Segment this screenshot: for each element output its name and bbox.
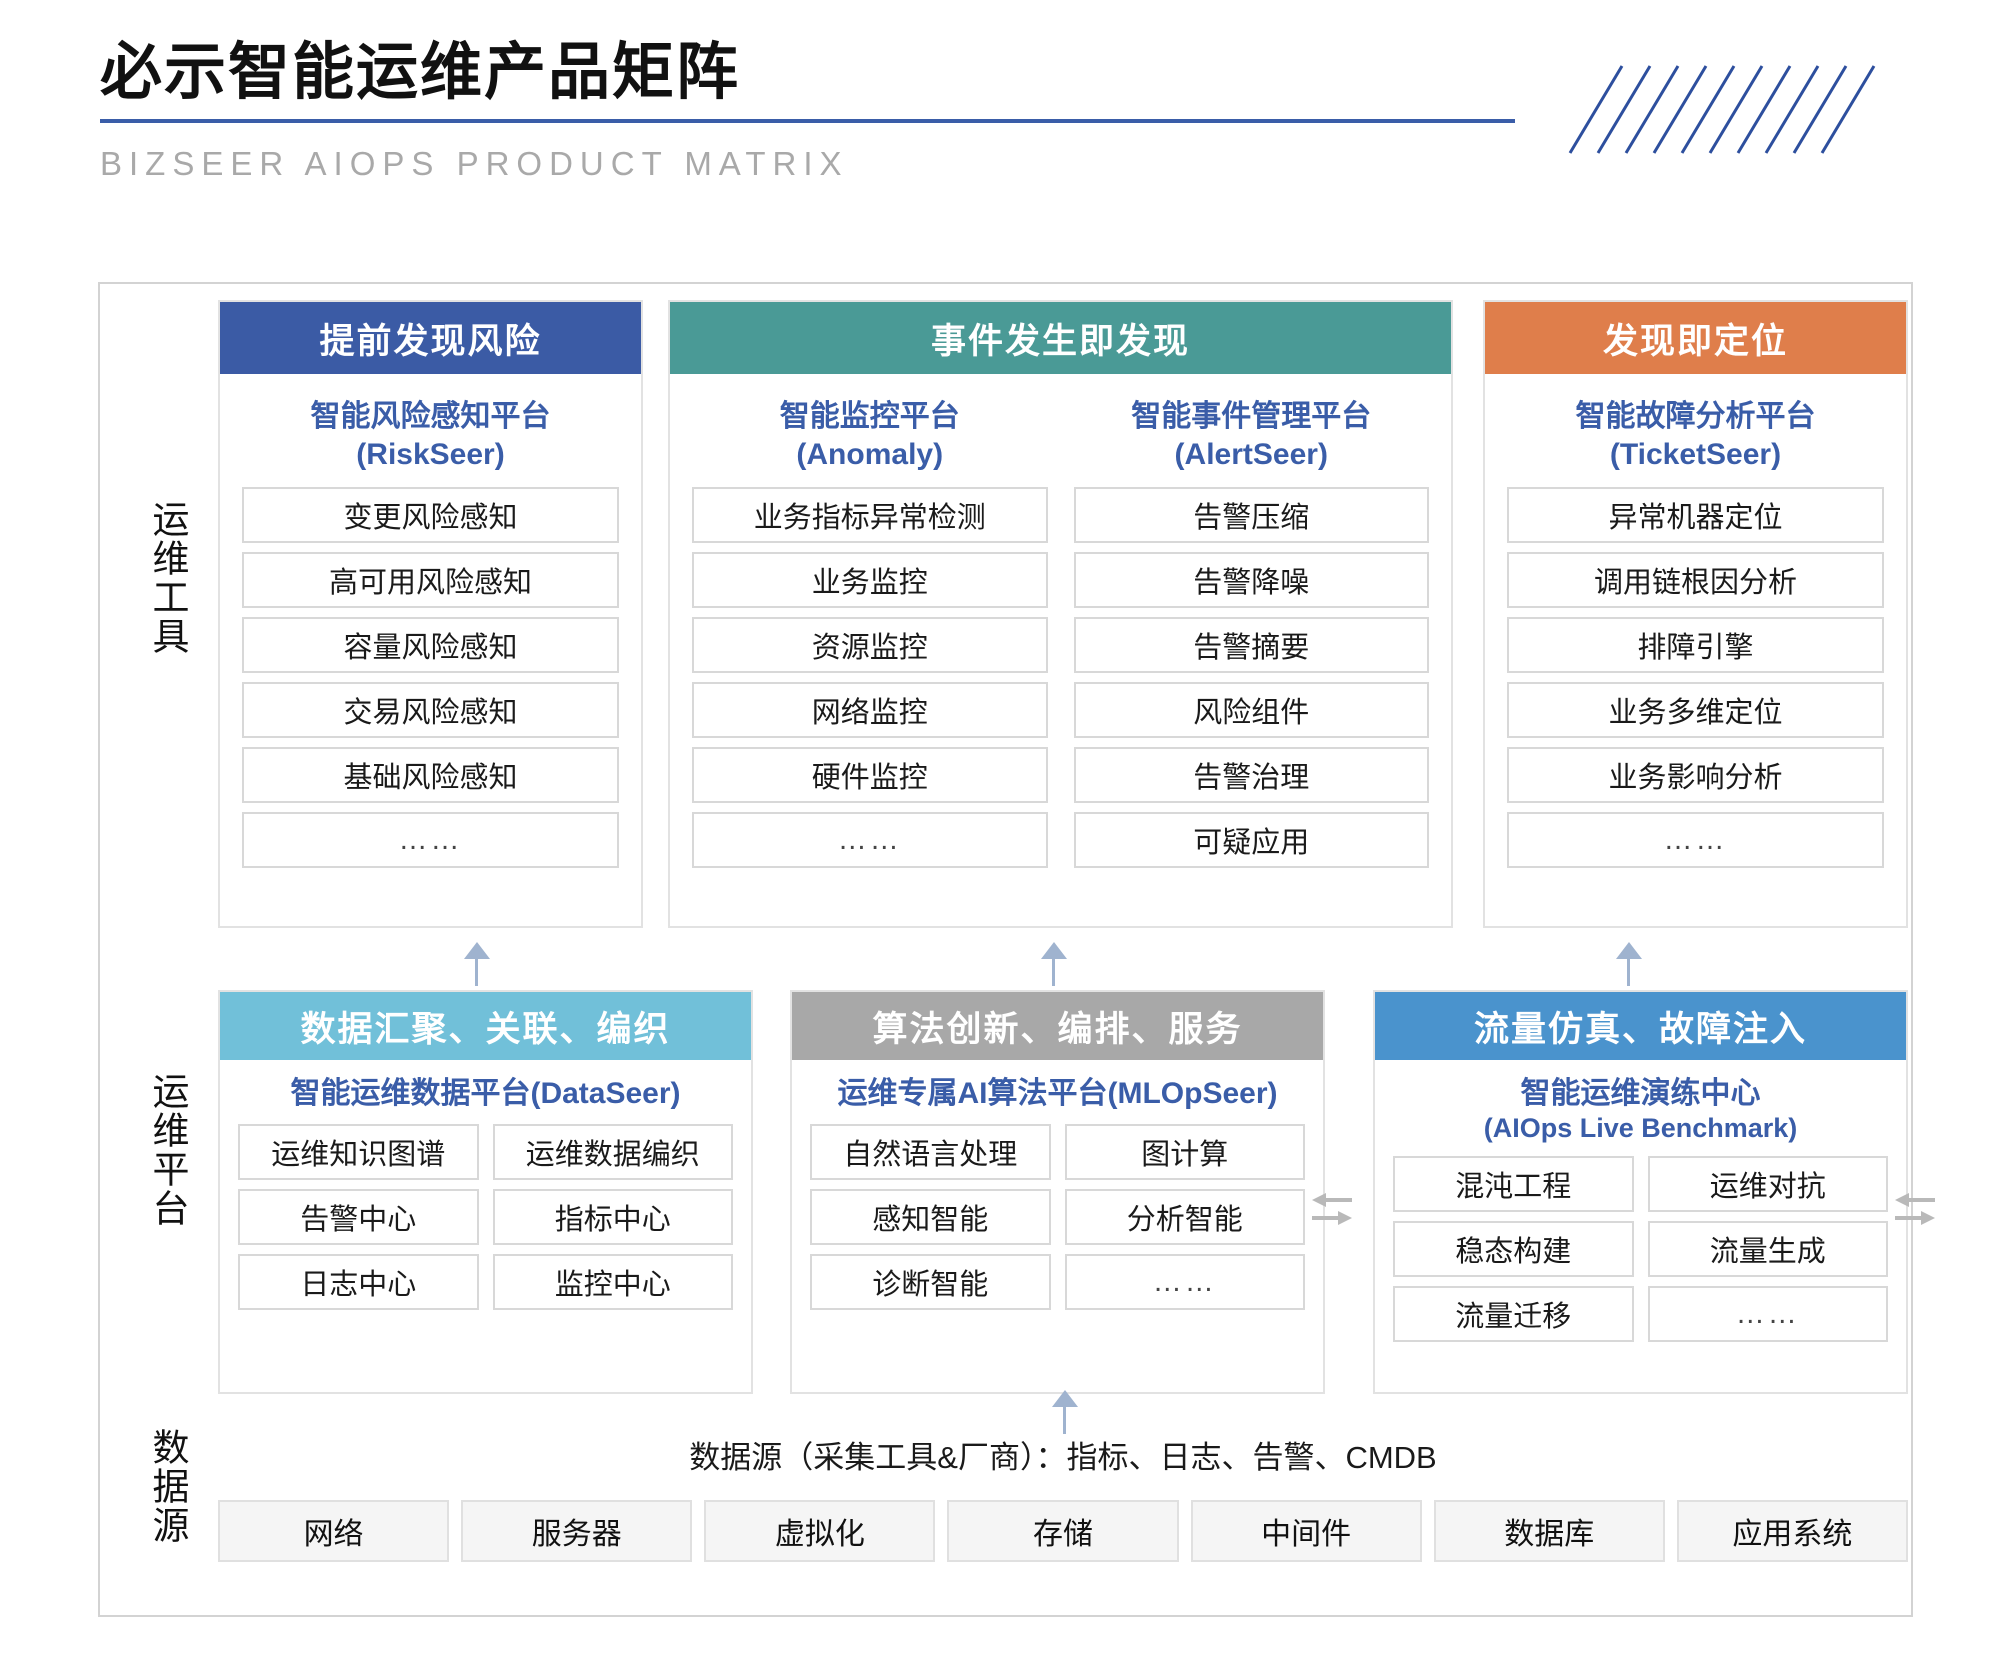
list-item[interactable]: 业务多维定位	[1507, 682, 1884, 738]
product-title-riskseer: 智能风险感知平台 (RiskSeer)	[242, 398, 619, 473]
panel-event-detection[interactable]: 事件发生即发现 智能监控平台 (Anomaly) 业务指标异常检测 业务监控 资…	[668, 300, 1453, 928]
item-grid-mlopseer: 自然语言处理 图计算 感知智能 分析智能 诊断智能 ……	[792, 1124, 1323, 1328]
list-item-more[interactable]: ……	[1507, 812, 1884, 868]
item-list-ticketseer: 异常机器定位 调用链根因分析 排障引擎 业务多维定位 业务影响分析 ……	[1507, 487, 1884, 868]
list-item[interactable]: 诊断智能	[810, 1254, 1051, 1310]
product-title-ticketseer: 智能故障分析平台 (TicketSeer)	[1507, 398, 1884, 473]
list-item-more[interactable]: ……	[692, 812, 1048, 868]
product-title-ticketseer-en: (TicketSeer)	[1507, 436, 1884, 474]
platform-title-benchmark-en: (AIOps Live Benchmark)	[1375, 1112, 1906, 1144]
platform-title-aiops-live-benchmark: 智能运维演练中心 (AIOps Live Benchmark)	[1375, 1076, 1906, 1144]
list-item[interactable]: 运维数据编织	[493, 1124, 734, 1180]
product-title-anomaly: 智能监控平台 (Anomaly)	[692, 398, 1048, 473]
product-title-anomaly-en: (Anomaly)	[692, 436, 1048, 474]
list-item[interactable]: 监控中心	[493, 1254, 734, 1310]
product-title-ticketseer-cn: 智能故障分析平台	[1507, 398, 1884, 436]
panel-header-aiops-live-benchmark: 流量仿真、故障注入	[1375, 992, 1906, 1060]
ops-platform-row: 数据汇聚、关联、编织 智能运维数据平台(DataSeer) 运维知识图谱 运维数…	[218, 990, 1908, 1410]
product-title-alertseer-en: (AlertSeer)	[1074, 436, 1430, 474]
list-item[interactable]: 分析智能	[1065, 1189, 1306, 1245]
panel-header-fault-localization: 发现即定位	[1485, 302, 1906, 374]
panel-dataseer[interactable]: 数据汇聚、关联、编织 智能运维数据平台(DataSeer) 运维知识图谱 运维数…	[218, 990, 753, 1394]
product-title-riskseer-cn: 智能风险感知平台	[242, 398, 619, 436]
list-item[interactable]: 自然语言处理	[810, 1124, 1051, 1180]
list-item[interactable]: 日志中心	[238, 1254, 479, 1310]
list-item[interactable]: 运维知识图谱	[238, 1124, 479, 1180]
panel-fault-localization[interactable]: 发现即定位 智能故障分析平台 (TicketSeer) 异常机器定位 调用链根因…	[1483, 300, 1908, 928]
list-item-more[interactable]: ……	[242, 812, 619, 868]
list-item[interactable]: 排障引擎	[1507, 617, 1884, 673]
data-source-box[interactable]: 存储	[947, 1500, 1178, 1562]
title-underline-rule	[100, 119, 1515, 123]
product-title-riskseer-en: (RiskSeer)	[242, 436, 619, 474]
list-item[interactable]: 调用链根因分析	[1507, 552, 1884, 608]
list-item[interactable]: 流量迁移	[1393, 1286, 1634, 1342]
list-item[interactable]: 告警中心	[238, 1189, 479, 1245]
page-header: 必示智能运维产品矩阵 BIZSEER AIOPS PRODUCT MATRIX	[0, 0, 2000, 190]
item-list-anomaly: 业务指标异常检测 业务监控 资源监控 网络监控 硬件监控 ……	[692, 487, 1048, 868]
platform-title-mlopseer: 运维专属AI算法平台(MLOpSeer)	[792, 1076, 1323, 1112]
list-item[interactable]: 感知智能	[810, 1189, 1051, 1245]
item-list-riskseer: 变更风险感知 高可用风险感知 容量风险感知 交易风险感知 基础风险感知 ……	[242, 487, 619, 868]
ops-tools-row: 提前发现风险 智能风险感知平台 (RiskSeer) 变更风险感知 高可用风险感…	[218, 300, 1908, 935]
list-item[interactable]: 变更风险感知	[242, 487, 619, 543]
list-item[interactable]: 业务影响分析	[1507, 747, 1884, 803]
list-item[interactable]: 运维对抗	[1648, 1156, 1889, 1212]
list-item[interactable]: 指标中心	[493, 1189, 734, 1245]
list-item-more[interactable]: ……	[1065, 1254, 1306, 1310]
exchange-arrows-icon-right	[1895, 1192, 1935, 1226]
data-source-caption: 数据源（采集工具&厂商）：指标、日志、告警、CMDB	[218, 1432, 1908, 1477]
item-list-alertseer: 告警压缩 告警降噪 告警摘要 风险组件 告警治理 可疑应用	[1074, 487, 1430, 868]
list-item[interactable]: 业务指标异常检测	[692, 487, 1048, 543]
list-item[interactable]: 资源监控	[692, 617, 1048, 673]
platform-title-mlopseer-cn: 运维专属AI算法平台(MLOpSeer)	[792, 1076, 1323, 1112]
product-title-anomaly-cn: 智能监控平台	[692, 398, 1048, 436]
product-title-alertseer: 智能事件管理平台 (AlertSeer)	[1074, 398, 1430, 473]
panel-header-mlopseer: 算法创新、编排、服务	[792, 992, 1323, 1060]
panel-header-event-detection: 事件发生即发现	[670, 302, 1451, 374]
data-source-box[interactable]: 网络	[218, 1500, 449, 1562]
list-item[interactable]: 流量生成	[1648, 1221, 1889, 1277]
panel-header-dataseer: 数据汇聚、关联、编织	[220, 992, 751, 1060]
list-item[interactable]: 告警摘要	[1074, 617, 1430, 673]
list-item-more[interactable]: ……	[1648, 1286, 1889, 1342]
list-item[interactable]: 可疑应用	[1074, 812, 1430, 868]
product-column-anomaly: 智能监控平台 (Anomaly) 业务指标异常检测 业务监控 资源监控 网络监控…	[692, 384, 1048, 868]
diagonal-stripes-decoration	[1560, 38, 1890, 158]
panel-aiops-live-benchmark[interactable]: 流量仿真、故障注入 智能运维演练中心 (AIOps Live Benchmark…	[1373, 990, 1908, 1394]
list-item[interactable]: 混沌工程	[1393, 1156, 1634, 1212]
data-source-box[interactable]: 服务器	[461, 1500, 692, 1562]
list-item[interactable]: 稳态构建	[1393, 1221, 1634, 1277]
data-source-box[interactable]: 虚拟化	[704, 1500, 935, 1562]
panel-header-risk-discovery: 提前发现风险	[220, 302, 641, 374]
data-source-box[interactable]: 应用系统	[1677, 1500, 1908, 1562]
list-item[interactable]: 交易风险感知	[242, 682, 619, 738]
list-item[interactable]: 风险组件	[1074, 682, 1430, 738]
platform-title-dataseer: 智能运维数据平台(DataSeer)	[220, 1076, 751, 1112]
list-item[interactable]: 基础风险感知	[242, 747, 619, 803]
list-item[interactable]: 硬件监控	[692, 747, 1048, 803]
product-title-alertseer-cn: 智能事件管理平台	[1074, 398, 1430, 436]
list-item[interactable]: 高可用风险感知	[242, 552, 619, 608]
item-grid-dataseer: 运维知识图谱 运维数据编织 告警中心 指标中心 日志中心 监控中心	[220, 1124, 751, 1328]
list-item[interactable]: 异常机器定位	[1507, 487, 1884, 543]
exchange-arrows-icon-left	[1312, 1192, 1352, 1226]
platform-title-dataseer-cn: 智能运维数据平台(DataSeer)	[220, 1076, 751, 1112]
list-item[interactable]: 告警压缩	[1074, 487, 1430, 543]
list-item[interactable]: 业务监控	[692, 552, 1048, 608]
list-item[interactable]: 告警治理	[1074, 747, 1430, 803]
list-item[interactable]: 容量风险感知	[242, 617, 619, 673]
panel-mlopseer[interactable]: 算法创新、编排、服务 运维专属AI算法平台(MLOpSeer) 自然语言处理 图…	[790, 990, 1325, 1394]
item-grid-aiops-live-benchmark: 混沌工程 运维对抗 稳态构建 流量生成 流量迁移 ……	[1375, 1156, 1906, 1360]
data-source-box[interactable]: 中间件	[1191, 1500, 1422, 1562]
data-source-box[interactable]: 数据库	[1434, 1500, 1665, 1562]
platform-title-benchmark-cn: 智能运维演练中心	[1375, 1076, 1906, 1112]
list-item[interactable]: 网络监控	[692, 682, 1048, 738]
panel-risk-discovery[interactable]: 提前发现风险 智能风险感知平台 (RiskSeer) 变更风险感知 高可用风险感…	[218, 300, 643, 928]
list-item[interactable]: 告警降噪	[1074, 552, 1430, 608]
data-source-row: 网络 服务器 虚拟化 存储 中间件 数据库 应用系统	[218, 1500, 1908, 1562]
list-item[interactable]: 图计算	[1065, 1124, 1306, 1180]
product-column-alertseer: 智能事件管理平台 (AlertSeer) 告警压缩 告警降噪 告警摘要 风险组件…	[1074, 384, 1430, 868]
